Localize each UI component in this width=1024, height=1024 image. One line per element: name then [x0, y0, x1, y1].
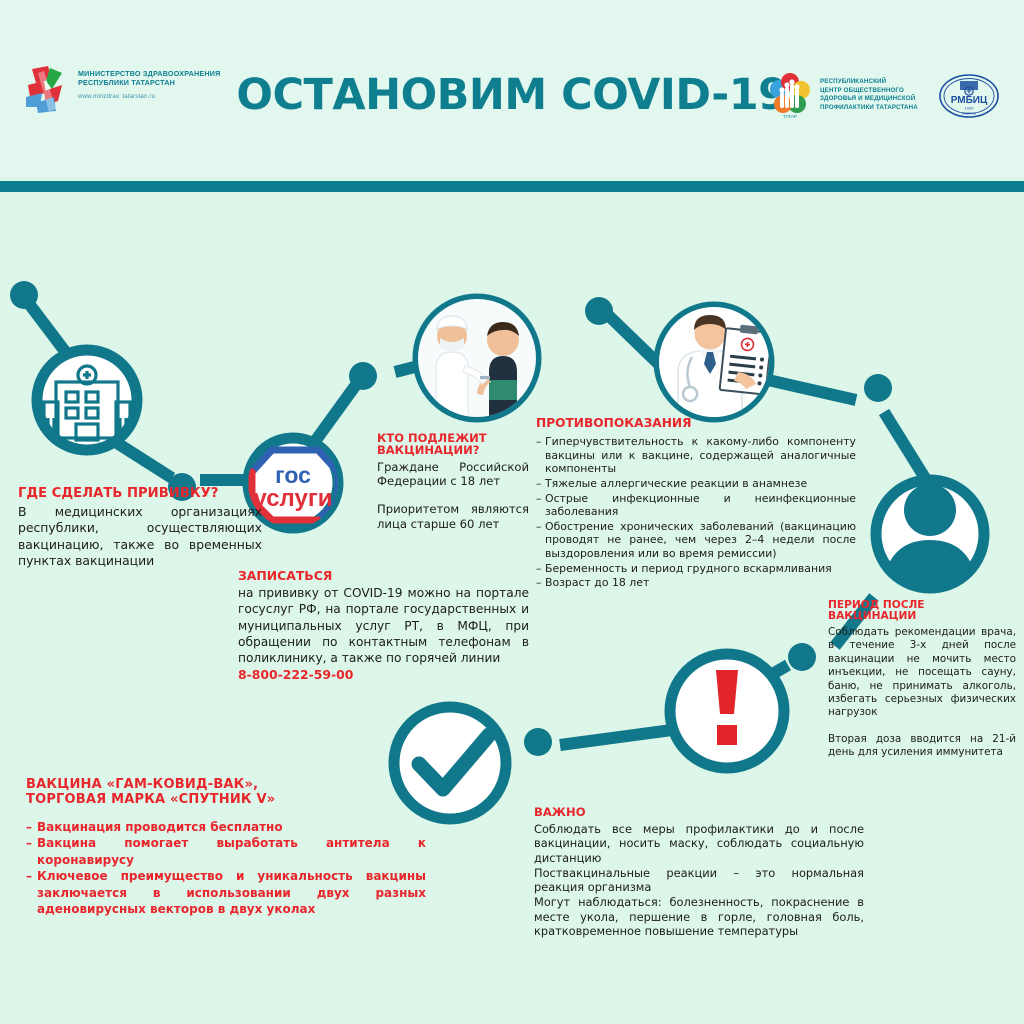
doctor-clipboard-icon [659, 307, 772, 420]
list-item: Беременность и период грудного вскармлив… [536, 562, 856, 576]
node-vaccination[interactable] [418, 299, 536, 420]
person-silhouette-icon [882, 484, 978, 588]
node-hospital[interactable] [37, 350, 137, 450]
vaccination-photo-icon [418, 299, 536, 420]
vaccine-heading: ВАКЦИНА «ГАМ-КОВИД-ВАК», ТОРГОВАЯ МАРКА … [26, 777, 426, 807]
signup-hotline-phone[interactable]: 8-800-222-59-00 [238, 667, 529, 683]
who-spacer [377, 489, 529, 502]
rcoz-line3: ЗДОРОВЬЯ И МЕДИЦИНСКОЙ [820, 95, 928, 104]
after-spacer [828, 720, 1016, 733]
signup-body: на прививку от COVID-19 можно на портале… [238, 585, 529, 665]
list-item: Гиперчувствительность к какому-либо комп… [536, 435, 856, 476]
who-body-1: Граждане Российской Федерации с 18 лет [377, 460, 529, 489]
checkmark-icon [419, 735, 489, 789]
rcoz-line4: ПРОФИЛАКТИКИ ТАТАРСТАНА [820, 104, 928, 113]
svg-text:КАЗАНЬ: КАЗАНЬ [962, 112, 977, 116]
exclamation-icon [716, 670, 738, 745]
node-person[interactable] [876, 480, 984, 588]
list-item: Возраст до 18 лет [536, 576, 856, 590]
block-important: ВАЖНО Соблюдать все меры профилактики до… [534, 806, 864, 939]
rcoz-logo: ТАТАР РЕСПУБЛИКАНСКИЙ ЦЕНТР ОБЩЕСТВЕННОГ… [766, 72, 926, 124]
rcoz-line1: РЕСПУБЛИКАНСКИЙ [820, 78, 928, 87]
vaccine-heading-line1: ВАКЦИНА «ГАМ-КОВИД-ВАК», [26, 777, 258, 792]
node-doctor[interactable] [659, 307, 772, 420]
vaccine-list: Вакцинация проводится бесплатно Вакцина … [26, 819, 426, 917]
rcoz-line2: ЦЕНТР ОБЩЕСТВЕННОГО [820, 87, 928, 96]
block-who-is-eligible: КТО ПОДЛЕЖИТ ВАКЦИНАЦИИ? Граждане Россий… [377, 432, 529, 531]
important-body-1: Соблюдать все меры профилактики до и пос… [534, 822, 864, 866]
svg-text:РМБИЦ: РМБИЦ [951, 95, 988, 106]
rcoz-emblem-icon: ТАТАР [766, 72, 814, 120]
important-body-2: Поствакцинальные реакции – это нормальна… [534, 866, 864, 895]
contraindications-list: Гиперчувствительность к какому-либо комп… [536, 435, 856, 590]
block-signup: ЗАПИСАТЬСЯ на прививку от COVID-19 можно… [238, 569, 529, 683]
list-item: Вакцинация проводится бесплатно [26, 819, 426, 835]
list-item: Острые инфекционные и неинфекционные заб… [536, 492, 856, 519]
list-item: Ключевое преимущество и уникальность вак… [26, 868, 426, 917]
list-item: Вакцина помогает выработать антитела к к… [26, 835, 426, 868]
svg-text:услуги: услуги [253, 485, 332, 512]
hospital-icon [44, 366, 130, 440]
svg-text:1930: 1930 [965, 106, 975, 111]
block-vaccine-info: ВАКЦИНА «ГАМ-КОВИД-ВАК», ТОРГОВАЯ МАРКА … [26, 777, 426, 917]
infographic-poster: МИНИСТЕРСТВО ЗДРАВООХРАНЕНИЯ РЕСПУБЛИКИ … [0, 0, 1024, 1024]
where-heading: ГДЕ СДЕЛАТЬ ПРИВИВКУ? [18, 487, 262, 501]
list-item: Тяжелые аллергические реакции в анамнезе [536, 477, 856, 491]
who-heading: КТО ПОДЛЕЖИТ ВАКЦИНАЦИИ? [377, 432, 529, 457]
svg-text:ТАТАР: ТАТАР [783, 114, 797, 119]
list-item: Обострение хронических заболеваний (вакц… [536, 520, 856, 561]
important-heading: ВАЖНО [534, 806, 864, 819]
block-after-vaccination: ПЕРИОД ПОСЛЕ ВАКЦИНАЦИИ Соблюдать рекоме… [828, 600, 1016, 760]
vaccine-heading-line2: ТОРГОВАЯ МАРКА «СПУТНИК V» [26, 792, 275, 807]
rcoz-wordmark: РЕСПУБЛИКАНСКИЙ ЦЕНТР ОБЩЕСТВЕННОГО ЗДОР… [820, 78, 928, 112]
important-body-3: Могут наблюдаться: болезненность, покрас… [534, 895, 864, 939]
signup-heading: ЗАПИСАТЬСЯ [238, 569, 529, 582]
block-where-to-vaccinate: ГДЕ СДЕЛАТЬ ПРИВИВКУ? В медицинских орга… [18, 487, 262, 569]
after-heading: ПЕРИОД ПОСЛЕ ВАКЦИНАЦИИ [828, 600, 1016, 623]
contraindications-heading: ПРОТИВОПОКАЗАНИЯ [536, 417, 856, 430]
block-contraindications: ПРОТИВОПОКАЗАНИЯ Гиперчувствительность к… [536, 417, 856, 591]
who-body-2: Приоритетом являются лица старше 60 лет [377, 502, 529, 531]
node-alert[interactable] [670, 654, 784, 768]
after-body-1: Соблюдать рекомендации врача, в течение … [828, 626, 1016, 720]
header-bar: МИНИСТЕРСТВО ЗДРАВООХРАНЕНИЯ РЕСПУБЛИКИ … [0, 0, 1024, 178]
gosuslugi-logo-icon: гос услуги [252, 450, 338, 520]
where-body: В медицинских организациях республики, о… [18, 504, 262, 569]
after-body-2: Вторая доза вводится на 21-й день для ус… [828, 733, 1016, 760]
rmbic-logo-icon: РМБИЦ 1930 КАЗАНЬ [938, 72, 1000, 120]
header-divider [0, 181, 1024, 192]
who-heading-line2: ВАКЦИНАЦИИ? [377, 443, 479, 457]
svg-text:гос: гос [275, 462, 311, 488]
